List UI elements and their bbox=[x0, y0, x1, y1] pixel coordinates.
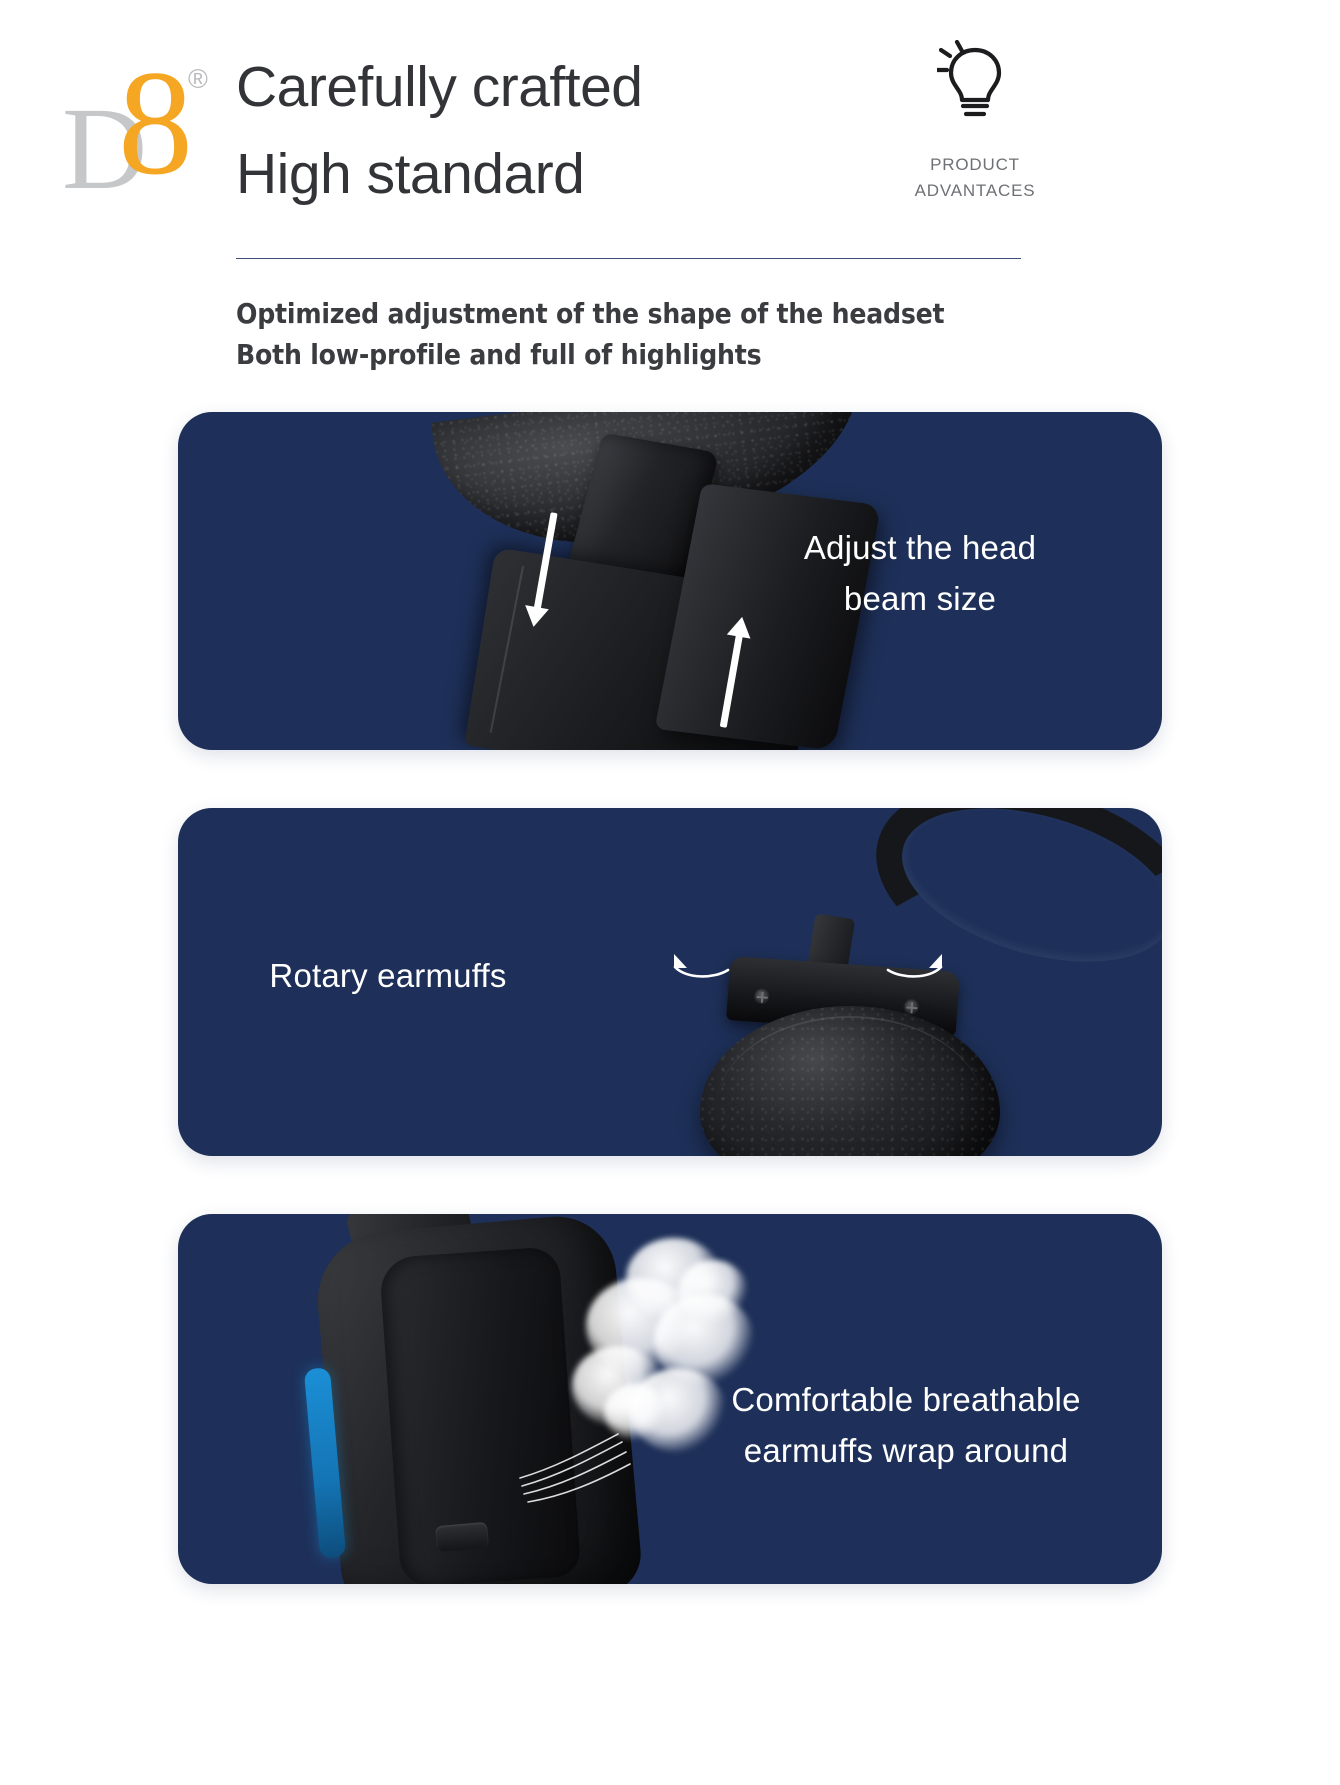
advantage-caption: PRODUCT ADVANTACES bbox=[880, 152, 1070, 203]
page-title: Carefully crafted High standard bbox=[236, 44, 896, 217]
caption-line-1: Comfortable breathable bbox=[686, 1374, 1126, 1425]
advantage-line-1: PRODUCT bbox=[880, 152, 1070, 178]
logo-number-8: 8 bbox=[118, 48, 193, 198]
feature-card-adjust-head-beam: Adjust the head beam size bbox=[178, 412, 1162, 750]
headline-line-2: High standard bbox=[236, 131, 896, 218]
headline-line-1: Carefully crafted bbox=[236, 44, 896, 131]
feature-card-rotary-earmuffs: Rotary earmuffs bbox=[178, 808, 1162, 1156]
header-divider bbox=[236, 258, 1021, 259]
advantage-line-2: ADVANTACES bbox=[880, 178, 1070, 204]
caption-line-1: Adjust the head bbox=[730, 522, 1110, 573]
rotate-left-arrow-icon bbox=[670, 948, 732, 982]
airflow-lines-icon bbox=[518, 1424, 638, 1504]
caption-line-1: Rotary earmuffs bbox=[208, 950, 568, 1001]
registered-trademark-icon: ® bbox=[188, 64, 208, 95]
brand-logo: D 8 ® bbox=[62, 42, 242, 192]
product-feature-page: D 8 ® Carefully crafted High standard PR… bbox=[0, 0, 1340, 1785]
rotate-right-arrow-icon bbox=[884, 948, 946, 982]
caption-line-2: beam size bbox=[730, 573, 1110, 624]
page-subtitle: Optimized adjustment of the shape of the… bbox=[236, 294, 1096, 376]
feature-card-list: Adjust the head beam size bbox=[0, 412, 1340, 1642]
subtitle-line-2: Both low-profile and full of highlights bbox=[236, 335, 1096, 376]
page-header: D 8 ® Carefully crafted High standard PR… bbox=[0, 0, 1340, 290]
earcup-control-button bbox=[435, 1522, 489, 1552]
card-caption-rotary-earmuffs: Rotary earmuffs bbox=[208, 950, 568, 1001]
feature-card-breathable-earmuffs: Comfortable breathable earmuffs wrap aro… bbox=[178, 1214, 1162, 1584]
caption-line-2: earmuffs wrap around bbox=[686, 1425, 1126, 1476]
lightbulb-icon bbox=[937, 40, 1013, 124]
card-caption-breathable-earmuffs: Comfortable breathable earmuffs wrap aro… bbox=[686, 1374, 1126, 1476]
headset-earcup-rotation-photo bbox=[642, 808, 1162, 1156]
subtitle-line-1: Optimized adjustment of the shape of the… bbox=[236, 294, 1096, 335]
hinge-screw-left bbox=[753, 988, 771, 1006]
card-caption-adjust-head-beam: Adjust the head beam size bbox=[730, 522, 1110, 624]
product-advantages-badge: PRODUCT ADVANTACES bbox=[880, 40, 1070, 203]
